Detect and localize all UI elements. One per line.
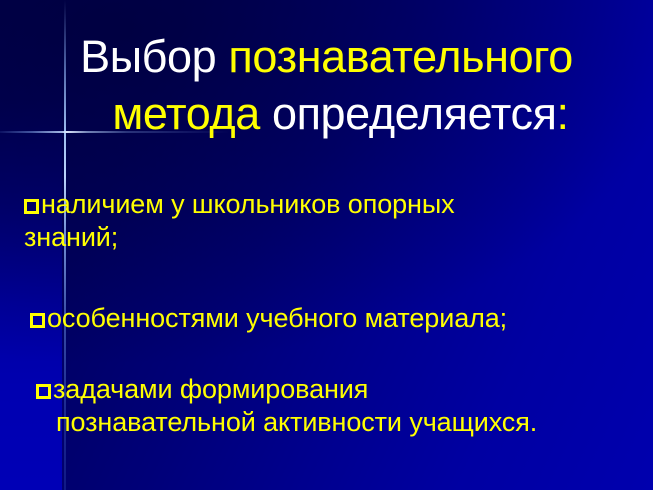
title-line-2: метода определяется: (84, 88, 568, 139)
title-colon: : (557, 88, 569, 139)
bullet-line-continued: знаний; (24, 221, 653, 254)
bullet-line-continued: познавательной активности учащихся. (36, 406, 653, 439)
square-bullet-icon (30, 313, 45, 328)
title-word-poznavatelnogo: познавательного (228, 31, 573, 82)
bullet-text: задачами формирования (53, 374, 368, 404)
bullet-text: наличием у школьников опорных (41, 189, 455, 219)
list-item: задачами формирования познавательной акт… (0, 373, 653, 439)
bullet-line-primary: наличием у школьников опорных (24, 188, 653, 221)
slide-title: Выбор познавательного метода определяетс… (0, 28, 653, 142)
title-word-opredelyaetsya: определяется (272, 88, 557, 139)
title-word-vybor: Выбор (80, 31, 228, 82)
bullet-line-primary: задачами формирования (36, 373, 653, 406)
presentation-slide: Выбор познавательного метода определяетс… (0, 0, 653, 490)
square-bullet-icon (36, 384, 51, 399)
bullet-line-primary: особенностями учебного материала; (30, 302, 653, 335)
title-line-1: Выбор познавательного (80, 31, 573, 82)
square-bullet-icon (24, 199, 39, 214)
list-item: особенностями учебного материала; (0, 302, 653, 335)
title-word-metoda: метода (112, 88, 272, 139)
list-item: наличием у школьников опорных знаний; (0, 188, 653, 254)
bullet-text: особенностями учебного материала; (47, 303, 507, 333)
